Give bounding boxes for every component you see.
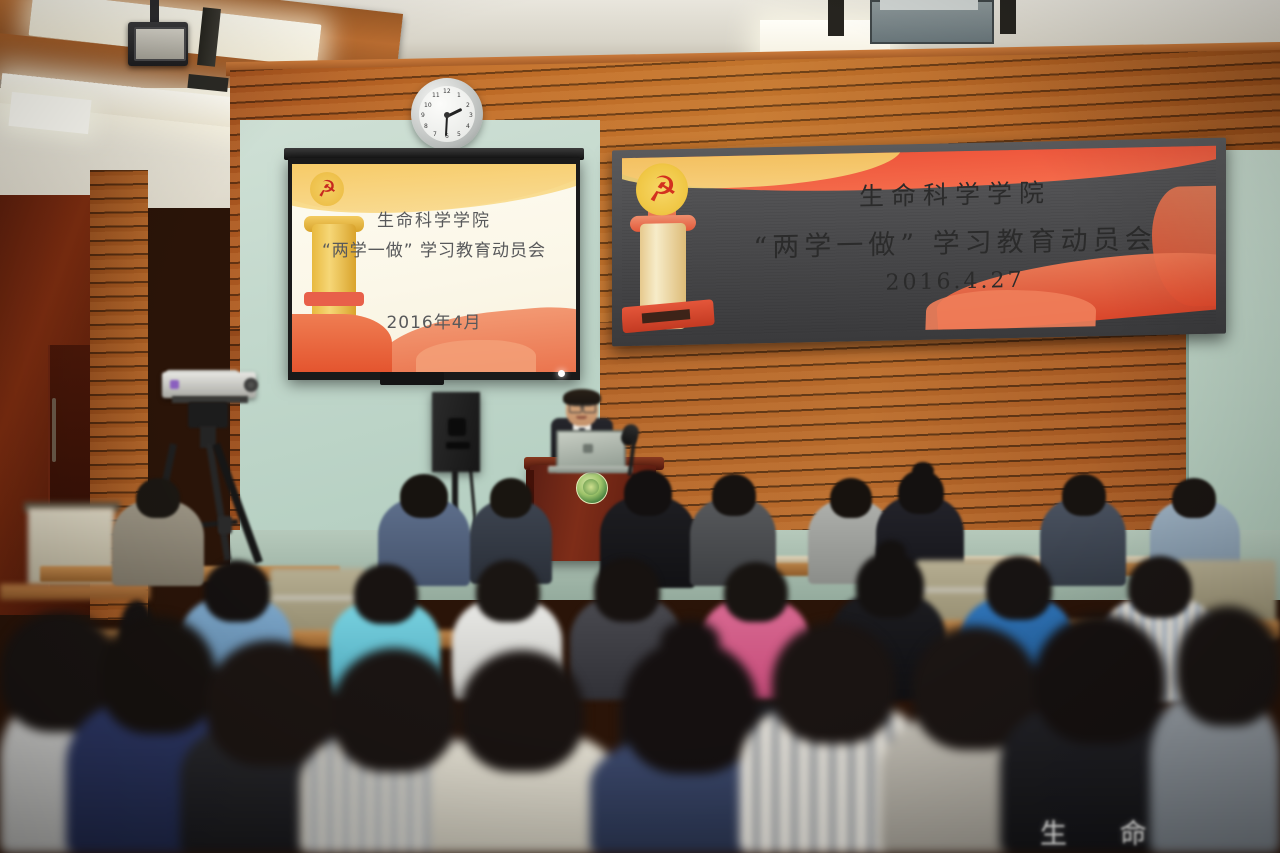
- attendee-head: [460, 650, 584, 772]
- attendee-head: [100, 616, 216, 734]
- attendee-head: [772, 622, 896, 744]
- audience-row-near: [0, 0, 1280, 853]
- attendee-head: [1176, 606, 1280, 726]
- attendee-hair-bun: [660, 620, 720, 664]
- lecture-hall-photo: 12 1 2 3 4 5 6 7 8 9 10 11 ☭ 生命科学学院 “两学一…: [0, 0, 1280, 853]
- jacket-chinese-text: 生 命: [1040, 812, 1169, 851]
- attendee-head: [206, 640, 334, 766]
- attendee-head: [332, 648, 456, 772]
- attendee-head: [1034, 614, 1166, 744]
